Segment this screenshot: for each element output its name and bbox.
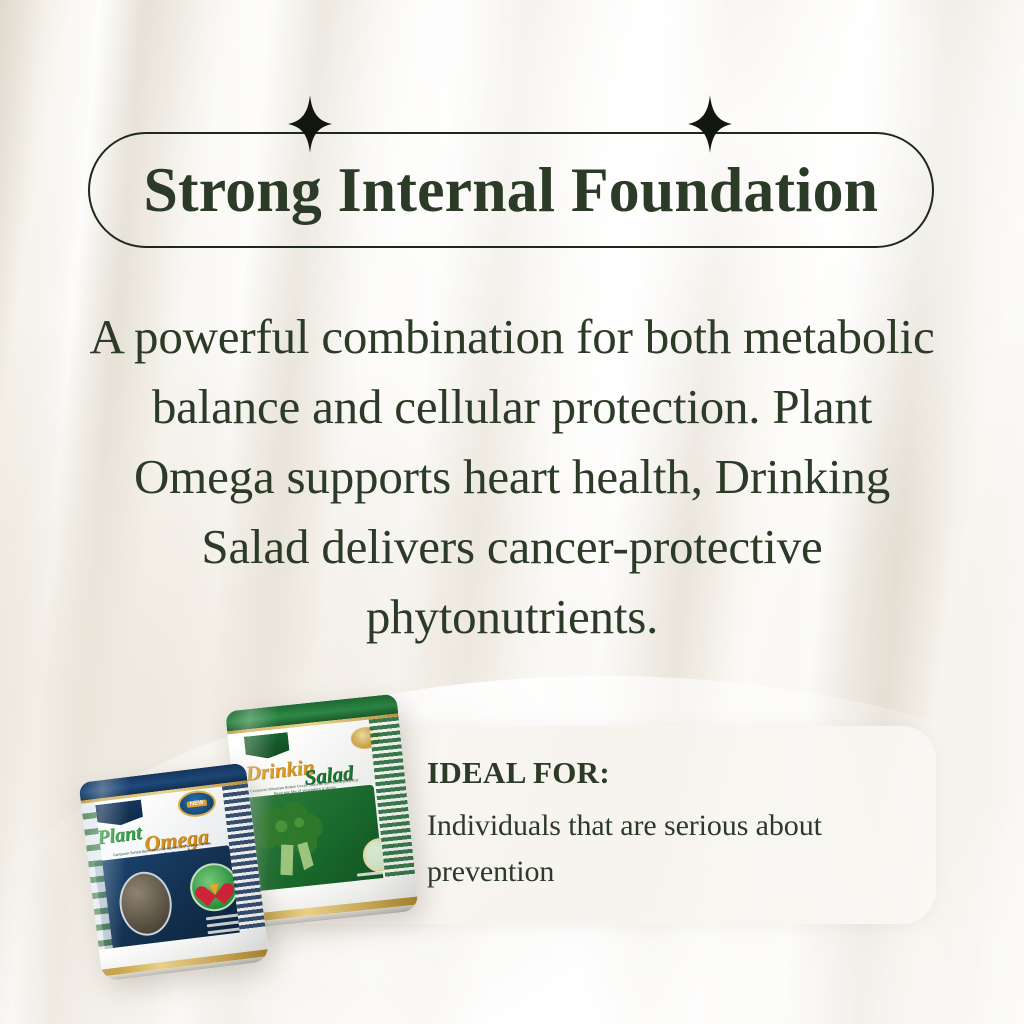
new-badge-label: NEW (187, 800, 208, 808)
poster-canvas: Strong Internal Foundation A powerful co… (0, 0, 1024, 1024)
broccoli-icon (249, 793, 335, 883)
product-can-plant-omega: NEW Plant Omega Campuran Serbuk Bijirin … (78, 763, 269, 982)
heart-shape (201, 875, 228, 900)
product-images: Drinkin Salad Campuran Minuman Botani Ce… (0, 0, 1024, 1024)
down-arrow-icon (209, 884, 220, 896)
